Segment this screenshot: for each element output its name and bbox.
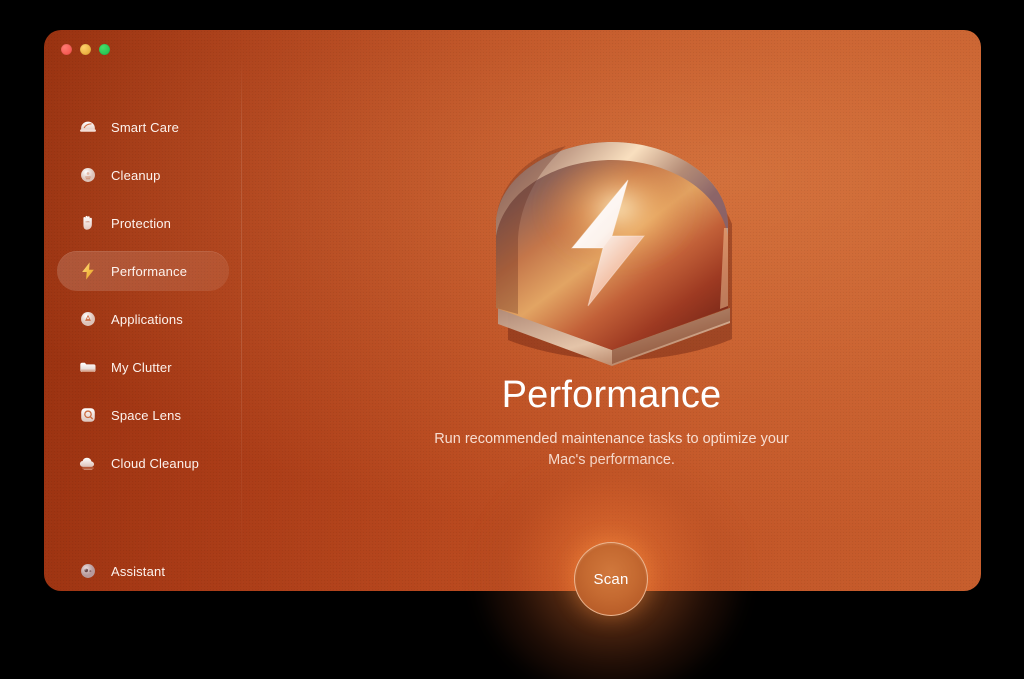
window-controls <box>61 44 110 55</box>
performance-bolt-chevron-art <box>462 118 762 368</box>
smart-care-icon <box>77 116 99 138</box>
sidebar-item-applications[interactable]: Applications <box>57 299 229 339</box>
sidebar-item-cleanup[interactable]: Cleanup <box>57 155 229 195</box>
sidebar-item-label: Smart Care <box>111 120 179 135</box>
screen: Smart Care Cleanup <box>0 0 1024 679</box>
close-icon[interactable] <box>61 44 72 55</box>
assistant-icon <box>77 560 99 582</box>
sidebar-item-label: Protection <box>111 216 171 231</box>
sidebar-divider <box>241 56 242 565</box>
performance-icon <box>77 260 99 282</box>
cloud-cleanup-icon <box>77 452 99 474</box>
sidebar-item-label: Applications <box>111 312 183 327</box>
scan-button[interactable]: Scan <box>574 542 648 616</box>
sidebar-item-protection[interactable]: Protection <box>57 203 229 243</box>
scan-button-label: Scan <box>594 571 629 588</box>
sidebar-item-my-clutter[interactable]: My Clutter <box>57 347 229 387</box>
main-content: Performance Run recommended maintenance … <box>242 30 981 591</box>
sidebar-item-assistant[interactable]: Assistant <box>57 551 229 591</box>
sidebar-item-space-lens[interactable]: Space Lens <box>57 395 229 435</box>
sidebar-item-cloud-cleanup[interactable]: Cloud Cleanup <box>57 443 229 483</box>
maximize-icon[interactable] <box>99 44 110 55</box>
sidebar-item-smart-care[interactable]: Smart Care <box>57 107 229 147</box>
space-lens-icon <box>77 404 99 426</box>
page-subtitle: Run recommended maintenance tasks to opt… <box>432 429 792 471</box>
my-clutter-icon <box>77 356 99 378</box>
sidebar-item-label: Assistant <box>111 564 165 579</box>
protection-icon <box>77 212 99 234</box>
app-window: Smart Care Cleanup <box>44 30 981 591</box>
sidebar-nav-list: Smart Care Cleanup <box>44 107 242 591</box>
sidebar: Smart Care Cleanup <box>44 30 242 591</box>
sidebar-item-label: Cloud Cleanup <box>111 456 199 471</box>
minimize-icon[interactable] <box>80 44 91 55</box>
cleanup-icon <box>77 164 99 186</box>
sidebar-spacer <box>44 491 242 551</box>
sidebar-item-label: Performance <box>111 264 187 279</box>
page-title: Performance <box>502 374 722 417</box>
sidebar-item-label: Cleanup <box>111 168 160 183</box>
sidebar-item-label: My Clutter <box>111 360 172 375</box>
sidebar-item-label: Space Lens <box>111 408 181 423</box>
applications-icon <box>77 308 99 330</box>
sidebar-item-performance[interactable]: Performance <box>57 251 229 291</box>
